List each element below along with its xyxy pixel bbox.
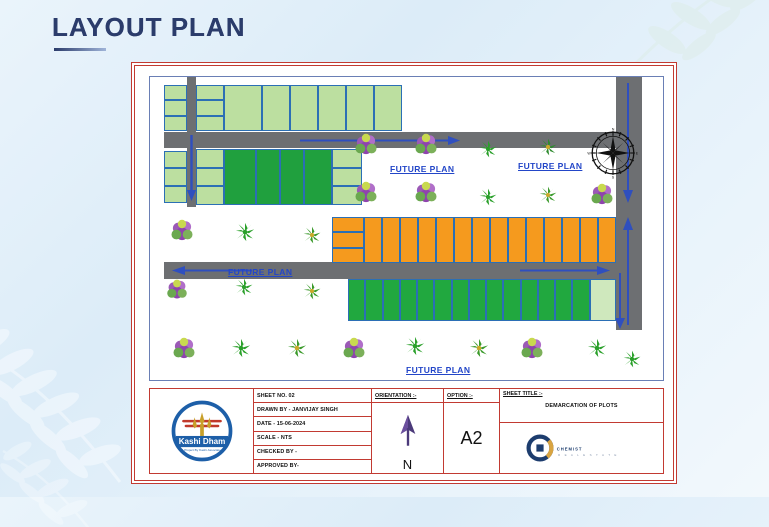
plot-cell[interactable] bbox=[164, 116, 187, 131]
palm-tree-icon bbox=[466, 335, 492, 361]
plot-cell[interactable] bbox=[164, 100, 187, 115]
plot-row-orange bbox=[364, 217, 616, 263]
sheet-title-cell: SHEET TITLE :- DEMARCATION OF PLOTS CHEM… bbox=[500, 389, 663, 473]
plot-block-midleft-b bbox=[196, 149, 224, 205]
future-plan-label: FUTURE PLAN bbox=[228, 267, 292, 277]
plot-cell[interactable] bbox=[332, 217, 364, 232]
north-arrow-icon bbox=[393, 412, 423, 456]
info-approved-by: APPROVED BY- bbox=[254, 460, 371, 473]
plot-cell[interactable] bbox=[400, 279, 417, 321]
plot-cell[interactable] bbox=[196, 116, 224, 131]
plot-cell[interactable] bbox=[382, 217, 400, 263]
logo-name: Kashi Dham bbox=[178, 437, 225, 446]
plot-cell[interactable] bbox=[508, 217, 526, 263]
plot-cell[interactable] bbox=[262, 85, 290, 131]
plot-cell[interactable] bbox=[164, 186, 187, 203]
plot-cell[interactable] bbox=[224, 85, 262, 131]
plot-cell[interactable] bbox=[332, 232, 364, 247]
logo-subtitle: A Project By Kashi Associates bbox=[181, 448, 223, 452]
plot-block-topleft-b bbox=[196, 85, 224, 131]
site-plan-drawing: N E S W FUTURE PLAN FUTURE bbox=[149, 76, 664, 381]
svg-text:N: N bbox=[612, 128, 615, 132]
flowering-tree-icon bbox=[340, 335, 368, 363]
plot-cell[interactable] bbox=[503, 279, 520, 321]
plot-cell[interactable] bbox=[196, 85, 224, 100]
sheet-title-top: SHEET TITLE :- DEMARCATION OF PLOTS bbox=[500, 389, 663, 423]
sheet-title-value: DEMARCATION OF PLOTS bbox=[500, 403, 663, 409]
info-sheet-no: SHEET NO. 02 bbox=[254, 389, 371, 403]
plot-cell[interactable] bbox=[472, 217, 490, 263]
plot-cell[interactable] bbox=[290, 85, 318, 131]
plot-cell[interactable] bbox=[486, 279, 503, 321]
palm-tree-icon bbox=[228, 335, 254, 361]
palm-tree-icon bbox=[232, 219, 258, 245]
plot-cell[interactable] bbox=[417, 279, 434, 321]
palm-tree-icon bbox=[476, 137, 500, 161]
orientation-body: N bbox=[372, 403, 443, 473]
future-plan-label: FUTURE PLAN bbox=[518, 161, 582, 171]
info-date: DATE - 15-06-2024 bbox=[254, 417, 371, 431]
palm-tree-icon bbox=[584, 335, 610, 361]
plot-block-midleft-a bbox=[164, 151, 187, 203]
plot-cell[interactable] bbox=[521, 279, 538, 321]
plot-row-mid-green bbox=[224, 149, 332, 205]
plot-cell[interactable] bbox=[562, 217, 580, 263]
plot-cell[interactable] bbox=[526, 217, 544, 263]
plot-row-topleft-wide bbox=[224, 85, 262, 131]
option-value: A2 bbox=[460, 428, 482, 449]
developer-logo-cell: CHEMIST R E A L E S T A T E bbox=[500, 423, 663, 473]
plot-cell[interactable] bbox=[346, 85, 374, 131]
plot-cell[interactable] bbox=[365, 279, 382, 321]
plot-cell[interactable] bbox=[572, 279, 589, 321]
plot-cell[interactable] bbox=[436, 217, 454, 263]
palm-tree-icon bbox=[284, 335, 310, 361]
plot-cell[interactable] bbox=[452, 279, 469, 321]
svg-text:S: S bbox=[612, 175, 615, 179]
svg-text:E: E bbox=[636, 152, 639, 156]
info-scale: SCALE - NTS bbox=[254, 432, 371, 446]
plot-cell-corner[interactable] bbox=[590, 279, 616, 321]
sheet-inner-border: N E S W FUTURE PLAN FUTURE bbox=[134, 65, 674, 481]
north-label: N bbox=[403, 457, 412, 472]
plot-cell[interactable] bbox=[196, 149, 224, 168]
plot-cell[interactable] bbox=[490, 217, 508, 263]
plot-cell[interactable] bbox=[454, 217, 472, 263]
plot-cell[interactable] bbox=[332, 248, 364, 263]
plot-cell[interactable] bbox=[224, 149, 256, 205]
palm-tree-icon bbox=[536, 183, 560, 207]
option-label: OPTION :- bbox=[444, 389, 499, 403]
developer-logo-name: CHEMIST bbox=[556, 446, 582, 451]
plot-cell[interactable] bbox=[196, 186, 224, 205]
plot-cell[interactable] bbox=[400, 217, 418, 263]
compass-rose-icon: N E S W bbox=[587, 127, 639, 179]
flowering-tree-icon bbox=[352, 179, 380, 207]
plot-cell[interactable] bbox=[196, 100, 224, 115]
plot-cell[interactable] bbox=[348, 279, 365, 321]
svg-text:W: W bbox=[587, 152, 591, 156]
flowering-tree-icon bbox=[518, 335, 546, 363]
palm-tree-icon bbox=[402, 333, 428, 359]
flowering-tree-icon bbox=[412, 131, 440, 159]
plot-cell[interactable] bbox=[280, 149, 304, 205]
flowering-tree-icon bbox=[588, 181, 616, 209]
flowering-tree-icon bbox=[352, 131, 380, 159]
chemist-logo: CHEMIST R E A L E S T A T E bbox=[522, 433, 642, 463]
plot-cell[interactable] bbox=[544, 217, 562, 263]
plot-cell[interactable] bbox=[256, 149, 280, 205]
flowering-tree-icon bbox=[164, 277, 190, 303]
future-plan-label: FUTURE PLAN bbox=[390, 164, 454, 174]
plot-cell[interactable] bbox=[196, 168, 224, 187]
plot-cell[interactable] bbox=[318, 85, 346, 131]
plot-cell[interactable] bbox=[164, 85, 187, 100]
plot-row-bottom-green bbox=[348, 279, 616, 321]
plot-cell[interactable] bbox=[164, 168, 187, 185]
plot-row-top-strip bbox=[262, 85, 402, 131]
info-drawn-by: DRAWN BY - JANVIJAY SINGH bbox=[254, 403, 371, 417]
plot-cell[interactable] bbox=[383, 279, 400, 321]
palm-tree-icon bbox=[536, 135, 560, 159]
option-body: A2 bbox=[444, 403, 499, 473]
flowering-tree-icon bbox=[412, 179, 440, 207]
palm-tree-icon bbox=[300, 279, 324, 303]
project-logo-cell: Kashi Dham A Project By Kashi Associates bbox=[150, 389, 254, 473]
palm-tree-icon bbox=[300, 223, 324, 247]
sheet-title-label: SHEET TITLE :- bbox=[503, 391, 543, 397]
palm-tree-icon bbox=[232, 275, 256, 299]
plot-cell[interactable] bbox=[598, 217, 616, 263]
palm-tree-icon bbox=[620, 347, 644, 371]
plot-cell[interactable] bbox=[538, 279, 555, 321]
plot-block-orange-left bbox=[332, 217, 364, 263]
road-arrow-right-mid bbox=[520, 265, 610, 276]
plot-cell[interactable] bbox=[418, 217, 436, 263]
developer-logo-sub: R E A L E S T A T E bbox=[558, 453, 618, 457]
plot-cell[interactable] bbox=[364, 217, 382, 263]
palm-tree-icon bbox=[476, 185, 500, 209]
orientation-label: ORIENTATION :- bbox=[372, 389, 443, 403]
info-checked-by: CHECKED BY - bbox=[254, 446, 371, 460]
flowering-tree-icon bbox=[170, 335, 198, 363]
plot-block-topleft-a bbox=[164, 85, 187, 131]
title-underline bbox=[54, 48, 106, 51]
plot-cell[interactable] bbox=[304, 149, 332, 205]
page-title: LAYOUT PLAN bbox=[52, 12, 246, 43]
title-block: Kashi Dham A Project By Kashi Associates… bbox=[149, 388, 664, 474]
plot-cell[interactable] bbox=[164, 151, 187, 168]
plot-cell[interactable] bbox=[469, 279, 486, 321]
plot-cell[interactable] bbox=[580, 217, 598, 263]
orientation-cell: ORIENTATION :- N bbox=[372, 389, 444, 473]
flowering-tree-icon bbox=[168, 217, 196, 245]
road-arrow-vertical-left-down bbox=[187, 135, 196, 201]
option-cell: OPTION :- A2 bbox=[444, 389, 500, 473]
plot-cell[interactable] bbox=[374, 85, 402, 131]
plot-cell[interactable] bbox=[434, 279, 451, 321]
future-plan-label: FUTURE PLAN bbox=[406, 365, 470, 375]
sheet-info-cell: SHEET NO. 02 DRAWN BY - JANVIJAY SINGH D… bbox=[254, 389, 372, 473]
drawing-sheet: N E S W FUTURE PLAN FUTURE bbox=[131, 62, 677, 484]
kashi-dham-logo: Kashi Dham A Project By Kashi Associates bbox=[171, 400, 233, 462]
plot-cell[interactable] bbox=[555, 279, 572, 321]
